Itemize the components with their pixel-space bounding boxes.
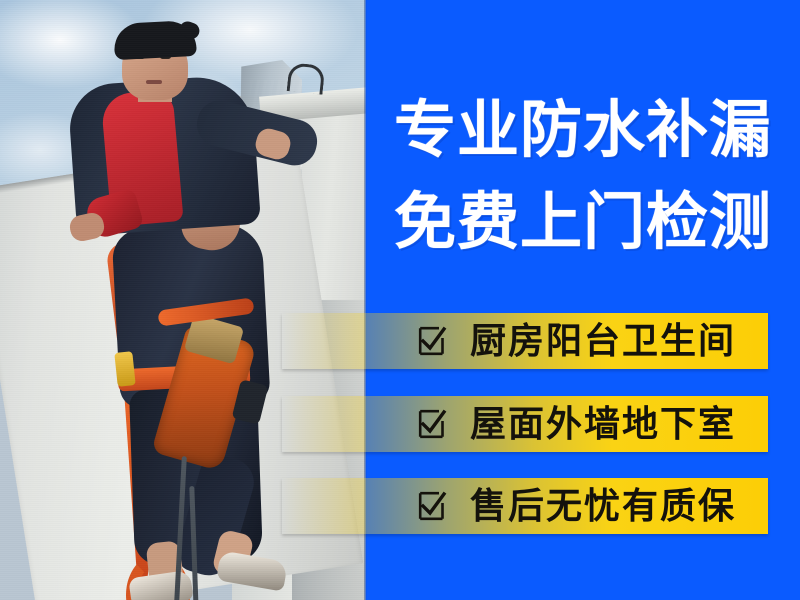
worker-shoe-right: [216, 550, 288, 591]
harness-buckle: [114, 351, 135, 387]
feature-label-2: 屋面外墙地下室: [470, 406, 736, 442]
feature-label-3: 售后无忧有质保: [470, 488, 736, 524]
checkbox-checked-icon: [418, 409, 448, 439]
checkbox-checked-icon: [418, 326, 448, 356]
feature-label-1: 厨房阳台卫生间: [470, 323, 736, 359]
waterproofing-ad-poster: 专业防水补漏 免费上门检测 厨房阳台卫生间 屋面外墙地下室 售后无忧有质保: [0, 0, 800, 600]
worker-top: [60, 18, 280, 248]
feature-bar-2: 屋面外墙地下室: [282, 396, 768, 452]
feature-bar-1: 厨房阳台卫生间: [282, 313, 768, 369]
headline-line-1: 专业防水补漏: [366, 100, 800, 162]
checkbox-checked-icon: [418, 491, 448, 521]
headline-line-2: 免费上门检测: [366, 192, 800, 254]
worker-mouth: [146, 80, 162, 84]
worker-hair: [113, 20, 197, 60]
feature-bar-3: 售后无忧有质保: [282, 478, 768, 534]
